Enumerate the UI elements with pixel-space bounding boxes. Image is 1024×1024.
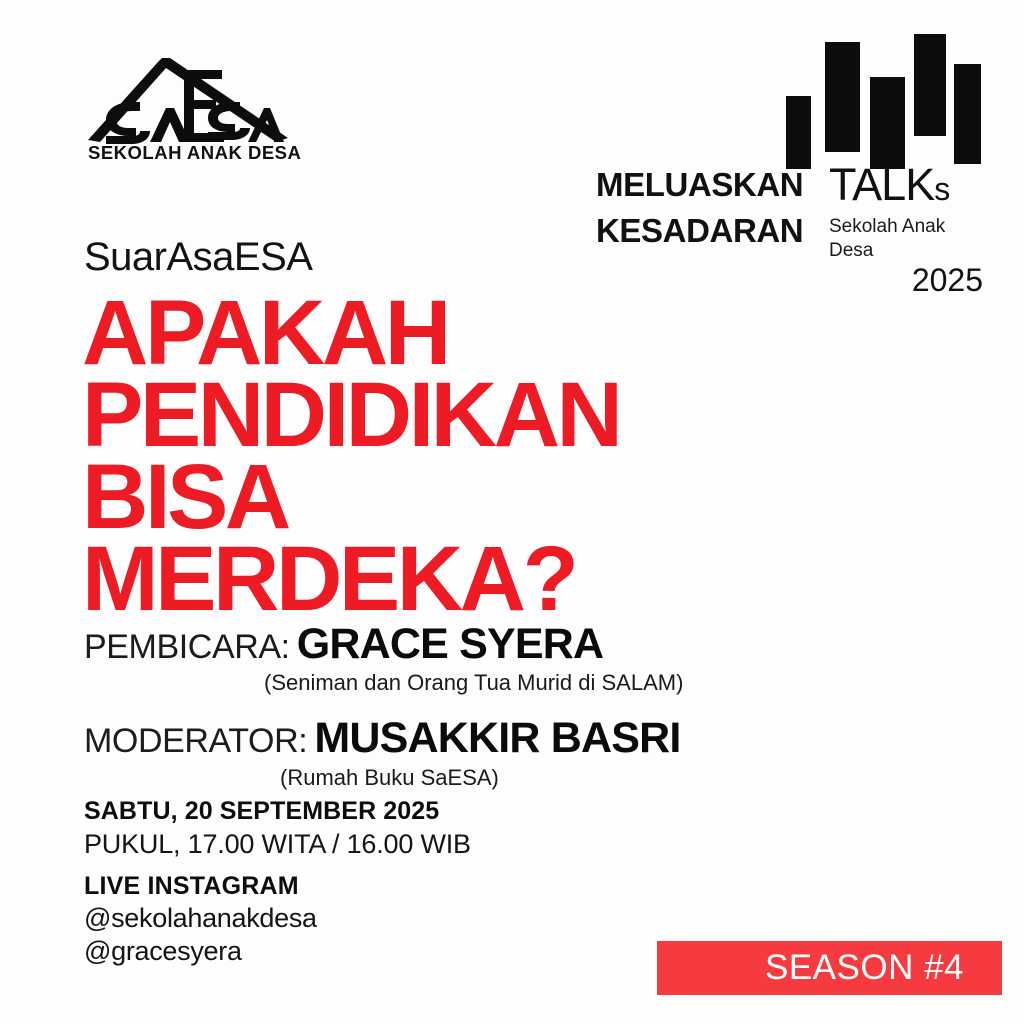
live-instagram-title: LIVE INSTAGRAM [84,870,317,902]
headline-line-3: BISA [82,456,882,538]
bar-chart-icon [786,34,966,169]
talks-word-suffix: s [934,171,949,207]
event-date: SABTU, 20 SEPTEMBER 2025 [84,795,471,827]
event-time: PUKUL, 17.00 WITA / 16.00 WIB [84,827,471,861]
bar-4 [914,34,946,136]
talks-word: TALKs [829,160,989,214]
talks-tagline: MELUASKAN KESADARAN [596,162,826,254]
instagram-handle-sekolahanakdesa[interactable]: @sekolahanakdesa [84,902,317,935]
tagline-line-1: MELUASKAN [596,162,826,208]
headline-line-2: PENDIDIKAN [82,374,882,456]
credits-block: PEMBICARA:GRACE SYERA (Seniman dan Orang… [84,620,964,791]
moderator-name: MUSAKKIR BASRI [314,714,680,762]
moderator-affiliation: (Rumah Buku SaESA) [280,765,964,791]
speaker-line: PEMBICARA:GRACE SYERA [84,620,964,669]
speaker-role-label: PEMBICARA: [84,628,290,666]
bar-1 [786,96,811,169]
saesa-logo: SEKOLAH ANAK DESA [80,50,295,175]
moderator-line: MODERATOR:MUSAKKIR BASRI [84,714,964,763]
meluaskan-kesadaran-talks-logo: MELUASKAN KESADARAN TALKs Sekolah Anak D… [596,34,986,284]
instagram-handle-gracesyera[interactable]: @gracesyera [84,935,317,968]
speaker-name: GRACE SYERA [297,620,604,668]
bar-3 [870,77,905,169]
bar-5 [954,64,981,164]
talks-org-line-1: Sekolah Anak [829,216,989,238]
speaker-affiliation: (Seniman dan Orang Tua Murid di SALAM) [264,670,964,696]
headline-line-4: MERDEKA? [82,538,882,620]
season-badge: SEASON #4 [657,941,1002,995]
talks-word-main: TALK [829,159,934,210]
saesa-house-logo-icon [80,50,295,145]
tagline-line-2: KESADARAN [596,208,826,254]
headline-line-1: APAKAH [82,292,882,374]
talks-wordmark: TALKs Sekolah Anak Desa 2025 [829,160,989,297]
saesa-logo-subtitle: SEKOLAH ANAK DESA [88,142,288,164]
live-instagram-block: LIVE INSTAGRAM @sekolahanakdesa @gracesy… [84,870,317,968]
talks-org-line-2: Desa [829,240,989,262]
program-name: SuarAsaESA [84,234,312,280]
season-badge-label: SEASON #4 [695,948,964,988]
headline: APAKAH PENDIDIKAN BISA MERDEKA? [82,292,882,620]
bar-2 [825,42,860,152]
event-poster: SEKOLAH ANAK DESA MELUASKAN KESADARAN TA… [0,0,1024,1024]
schedule-block: SABTU, 20 SEPTEMBER 2025 PUKUL, 17.00 WI… [84,795,471,861]
moderator-role-label: MODERATOR: [84,722,307,760]
